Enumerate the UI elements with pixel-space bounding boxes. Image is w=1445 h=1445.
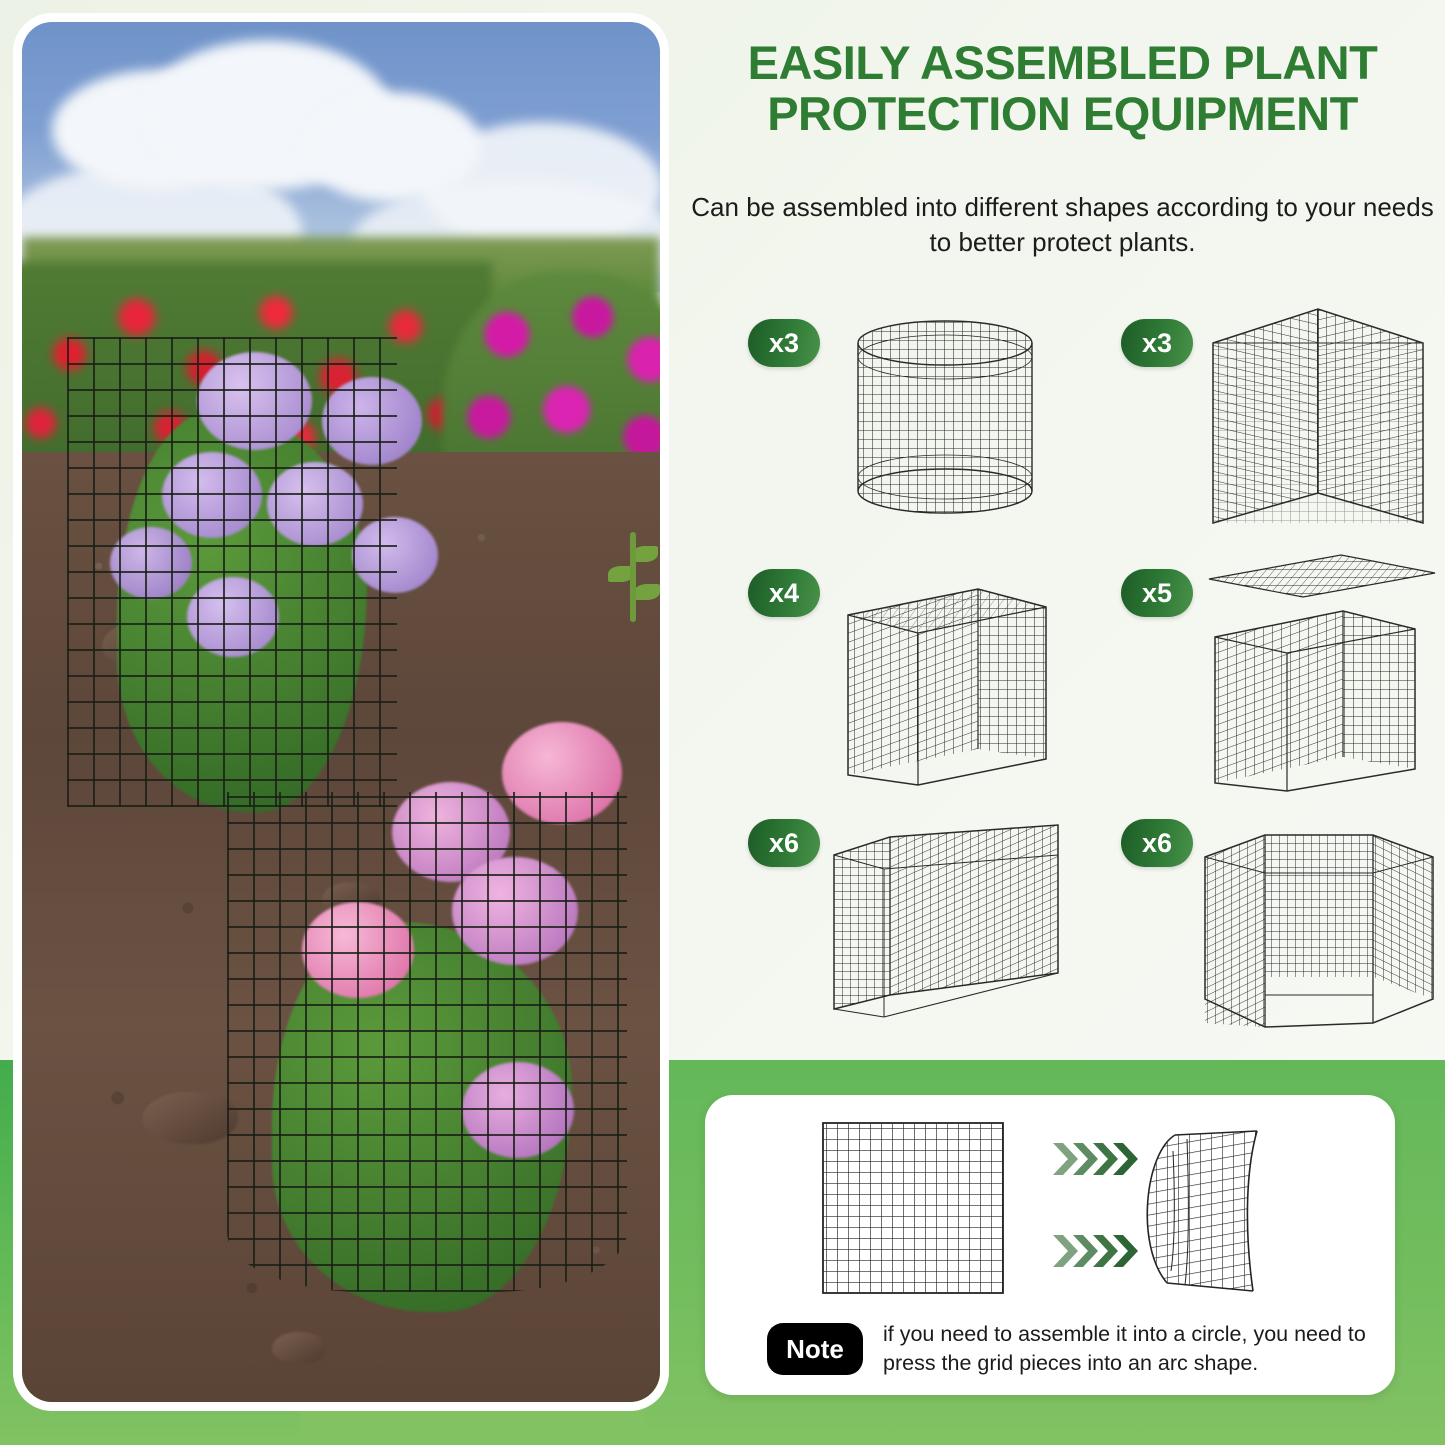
shape-options-grid: x3	[700, 295, 1445, 1040]
shape-card-triangular-prism: x3	[1073, 295, 1445, 543]
count-badge-5: x6	[748, 819, 820, 867]
note-row: Note if you need to assemble it into a c…	[767, 1313, 1367, 1385]
wire-cage-lower	[227, 792, 627, 1292]
count-badge-4: x5	[1121, 569, 1193, 617]
shape-card-cube-with-lid: x5	[1073, 545, 1445, 793]
page-title: EASILY ASSEMBLED PLANT PROTECTION EQUIPM…	[690, 38, 1435, 140]
cylinder-enclosure-icon	[818, 295, 1072, 543]
count-badge-1: x3	[748, 319, 820, 367]
assembly-diagram	[705, 1095, 1395, 1310]
note-text: if you need to assemble it into a circle…	[883, 1320, 1367, 1378]
small-seedling	[602, 522, 660, 642]
note-badge: Note	[767, 1323, 863, 1375]
open-top-cube-enclosure-icon	[818, 545, 1072, 793]
hexagonal-enclosure-icon	[1191, 795, 1445, 1043]
shape-card-hexagon: x6	[1073, 795, 1445, 1043]
count-badge-2: x3	[1121, 319, 1193, 367]
shape-card-open-cube: x4	[700, 545, 1072, 793]
shape-card-long-rect: x6	[700, 795, 1072, 1043]
triangular-prism-enclosure-icon	[1191, 295, 1445, 543]
cube-enclosure-with-lid-icon	[1191, 545, 1445, 793]
note-card: Note if you need to assemble it into a c…	[705, 1095, 1395, 1395]
long-rectangular-enclosure-icon	[818, 795, 1072, 1043]
count-badge-3: x4	[748, 569, 820, 617]
page-subtitle: Can be assembled into different shapes a…	[690, 190, 1435, 259]
wire-cage-upper	[67, 337, 397, 807]
count-badge-6: x6	[1121, 819, 1193, 867]
product-photo	[22, 22, 660, 1402]
shape-card-cylinder: x3	[700, 295, 1072, 543]
infographic-root: EASILY ASSEMBLED PLANT PROTECTION EQUIPM…	[0, 0, 1445, 1445]
